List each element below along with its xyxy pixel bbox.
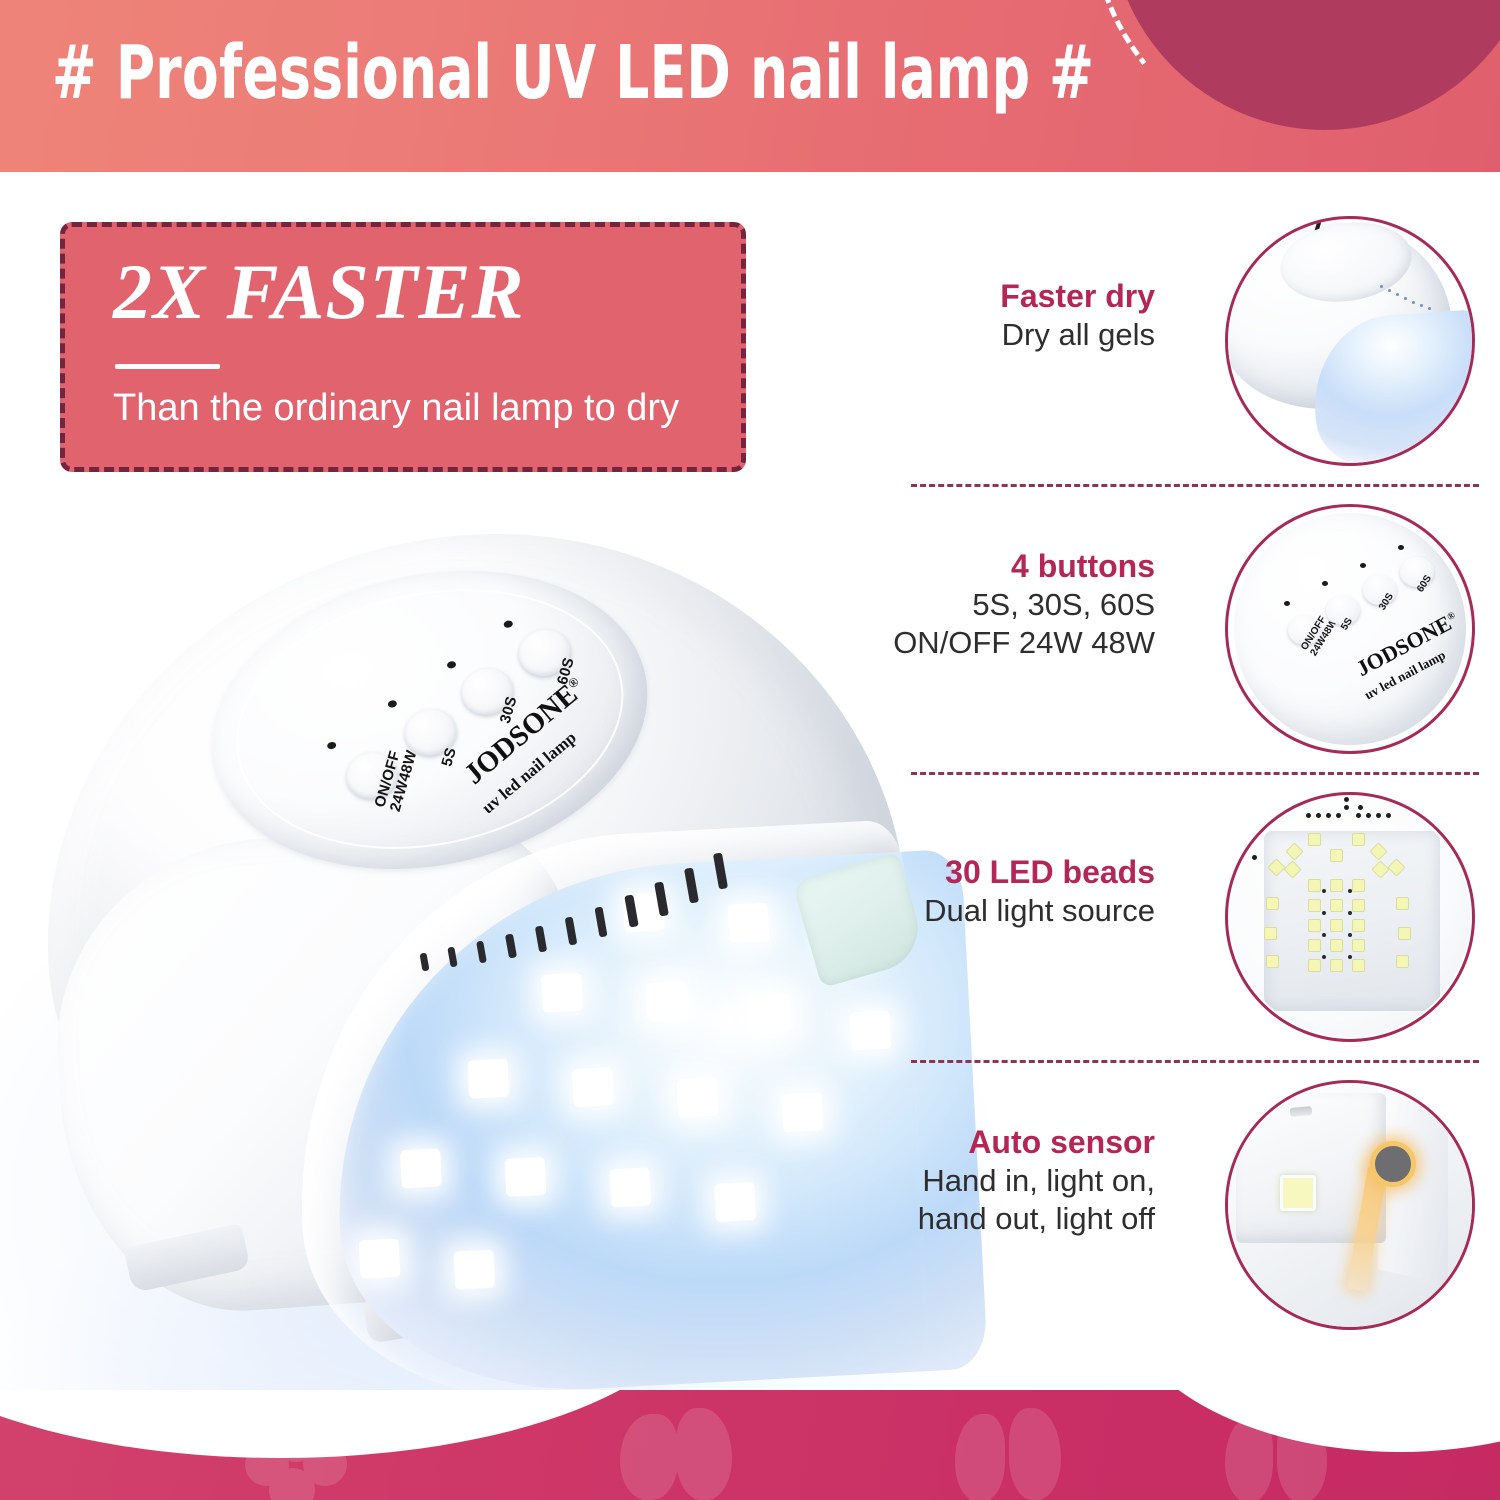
feature-list: Faster dry Dry all gels 4 buttons	[905, 216, 1485, 1406]
feature-separator	[911, 484, 1479, 487]
feature-text-block: Auto sensor Hand in, light on, hand out,…	[875, 1124, 1155, 1237]
feature-line: hand out, light off	[875, 1200, 1155, 1238]
feature-item-30-led-beads: 30 LED beads Dual light source	[905, 792, 1485, 1080]
feature-line: 5S, 30S, 60S	[875, 586, 1155, 624]
feature-item-faster-dry: Faster dry Dry all gels	[905, 216, 1485, 504]
feature-heading: Faster dry	[875, 278, 1155, 316]
lamp-angled-glow-photo	[1225, 216, 1475, 466]
feature-heading: 4 buttons	[875, 548, 1155, 586]
floral-watermark	[620, 1404, 760, 1500]
sensor-eye-icon	[1370, 1141, 1416, 1187]
feature-text-block: Faster dry Dry all gels	[875, 278, 1155, 354]
feature-line: ON/OFF 24W 48W	[875, 624, 1155, 662]
feature-text-block: 4 buttons 5S, 30S, 60S ON/OFF 24W 48W	[875, 548, 1155, 661]
feature-line: Dry all gels	[875, 316, 1155, 354]
control-panel-photo: ON/OFF24W48W 5S 30S 60S JODSONE® uv led …	[1225, 504, 1475, 754]
faster-divider-rule	[115, 364, 220, 369]
faster-subtitle: Than the ordinary nail lamp to dry	[113, 387, 679, 430]
photo-led-disc	[1230, 797, 1470, 1037]
bottom-decorative-band	[0, 1390, 1500, 1500]
feature-separator	[911, 1060, 1479, 1063]
feature-separator	[911, 772, 1479, 775]
header-banner: # Professional UV LED nail lamp #	[0, 0, 1500, 172]
feature-line: Dual light source	[875, 892, 1155, 930]
infographic-page: # Professional UV LED nail lamp # 2X FAS…	[0, 0, 1500, 1500]
feature-item-4-buttons: 4 buttons 5S, 30S, 60S ON/OFF 24W 48W ON…	[905, 504, 1485, 792]
header-dashed-arc	[1067, 0, 1500, 172]
faster-headline: 2X FASTER	[113, 253, 525, 331]
page-title: # Professional UV LED nail lamp #	[52, 30, 1094, 116]
photo-screw	[1290, 1106, 1313, 1117]
product-photo: ON/OFF24W48W 5S 30S 60S JODSONE® uv led …	[20, 520, 940, 1380]
auto-sensor-photo	[1225, 1080, 1475, 1330]
feature-heading: 30 LED beads	[875, 854, 1155, 892]
faster-callout-card: 2X FASTER Than the ordinary nail lamp to…	[60, 222, 746, 472]
feature-line: Hand in, light on,	[875, 1162, 1155, 1200]
floral-watermark	[955, 1408, 1075, 1500]
photo-led-chip	[1280, 1175, 1316, 1211]
lamp-body: ON/OFF24W48W 5S 30S 60S JODSONE® uv led …	[35, 535, 905, 1325]
feature-item-auto-sensor: Auto sensor Hand in, light on, hand out,…	[905, 1080, 1485, 1368]
feature-text-block: 30 LED beads Dual light source	[875, 854, 1155, 930]
led-interior-photo	[1225, 792, 1475, 1042]
feature-heading: Auto sensor	[875, 1124, 1155, 1162]
